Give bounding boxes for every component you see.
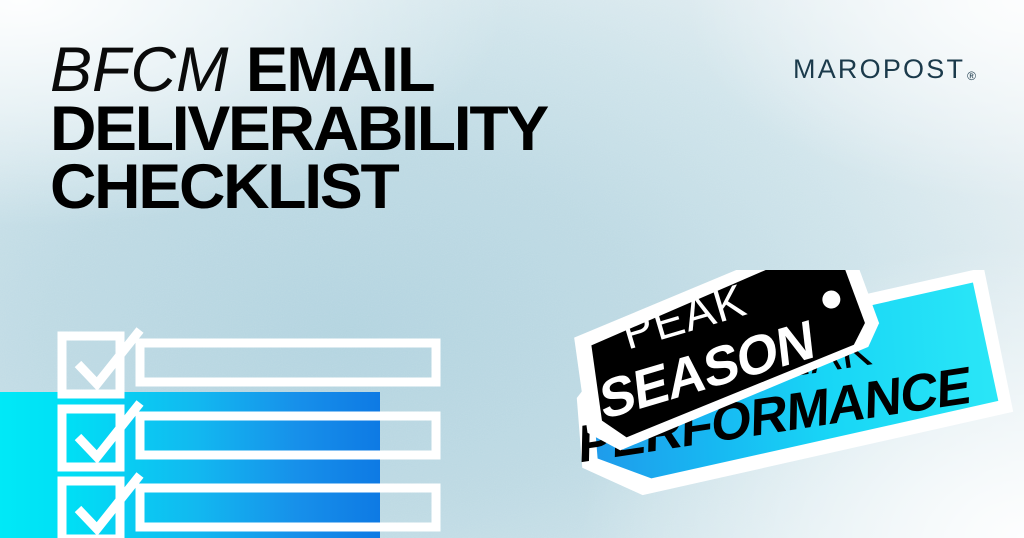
headline-bold-word-3: CHECKLIST <box>50 159 398 216</box>
headline-line-1: BFCM EMAIL <box>50 42 710 99</box>
page-title: BFCM EMAIL DELIVERABILITY CHECKLIST <box>50 42 710 216</box>
maropost-logo: MAROPOST ® <box>793 56 976 83</box>
peak-season-performance-badge: PEAK PERFORMANCE PEAK SEASON <box>540 270 1020 520</box>
checklist-accent-block <box>0 392 380 538</box>
logo-wordmark: MAROPOST <box>793 56 965 83</box>
headline-line-2: DELIVERABILITY <box>50 101 710 158</box>
poster-canvas: MAROPOST ® BFCM EMAIL DELIVERABILITY CHE… <box>0 0 1024 538</box>
headline-line-3: CHECKLIST <box>50 159 710 216</box>
headline-bold-word-2: DELIVERABILITY <box>50 101 547 158</box>
registered-trademark-icon: ® <box>967 70 976 82</box>
